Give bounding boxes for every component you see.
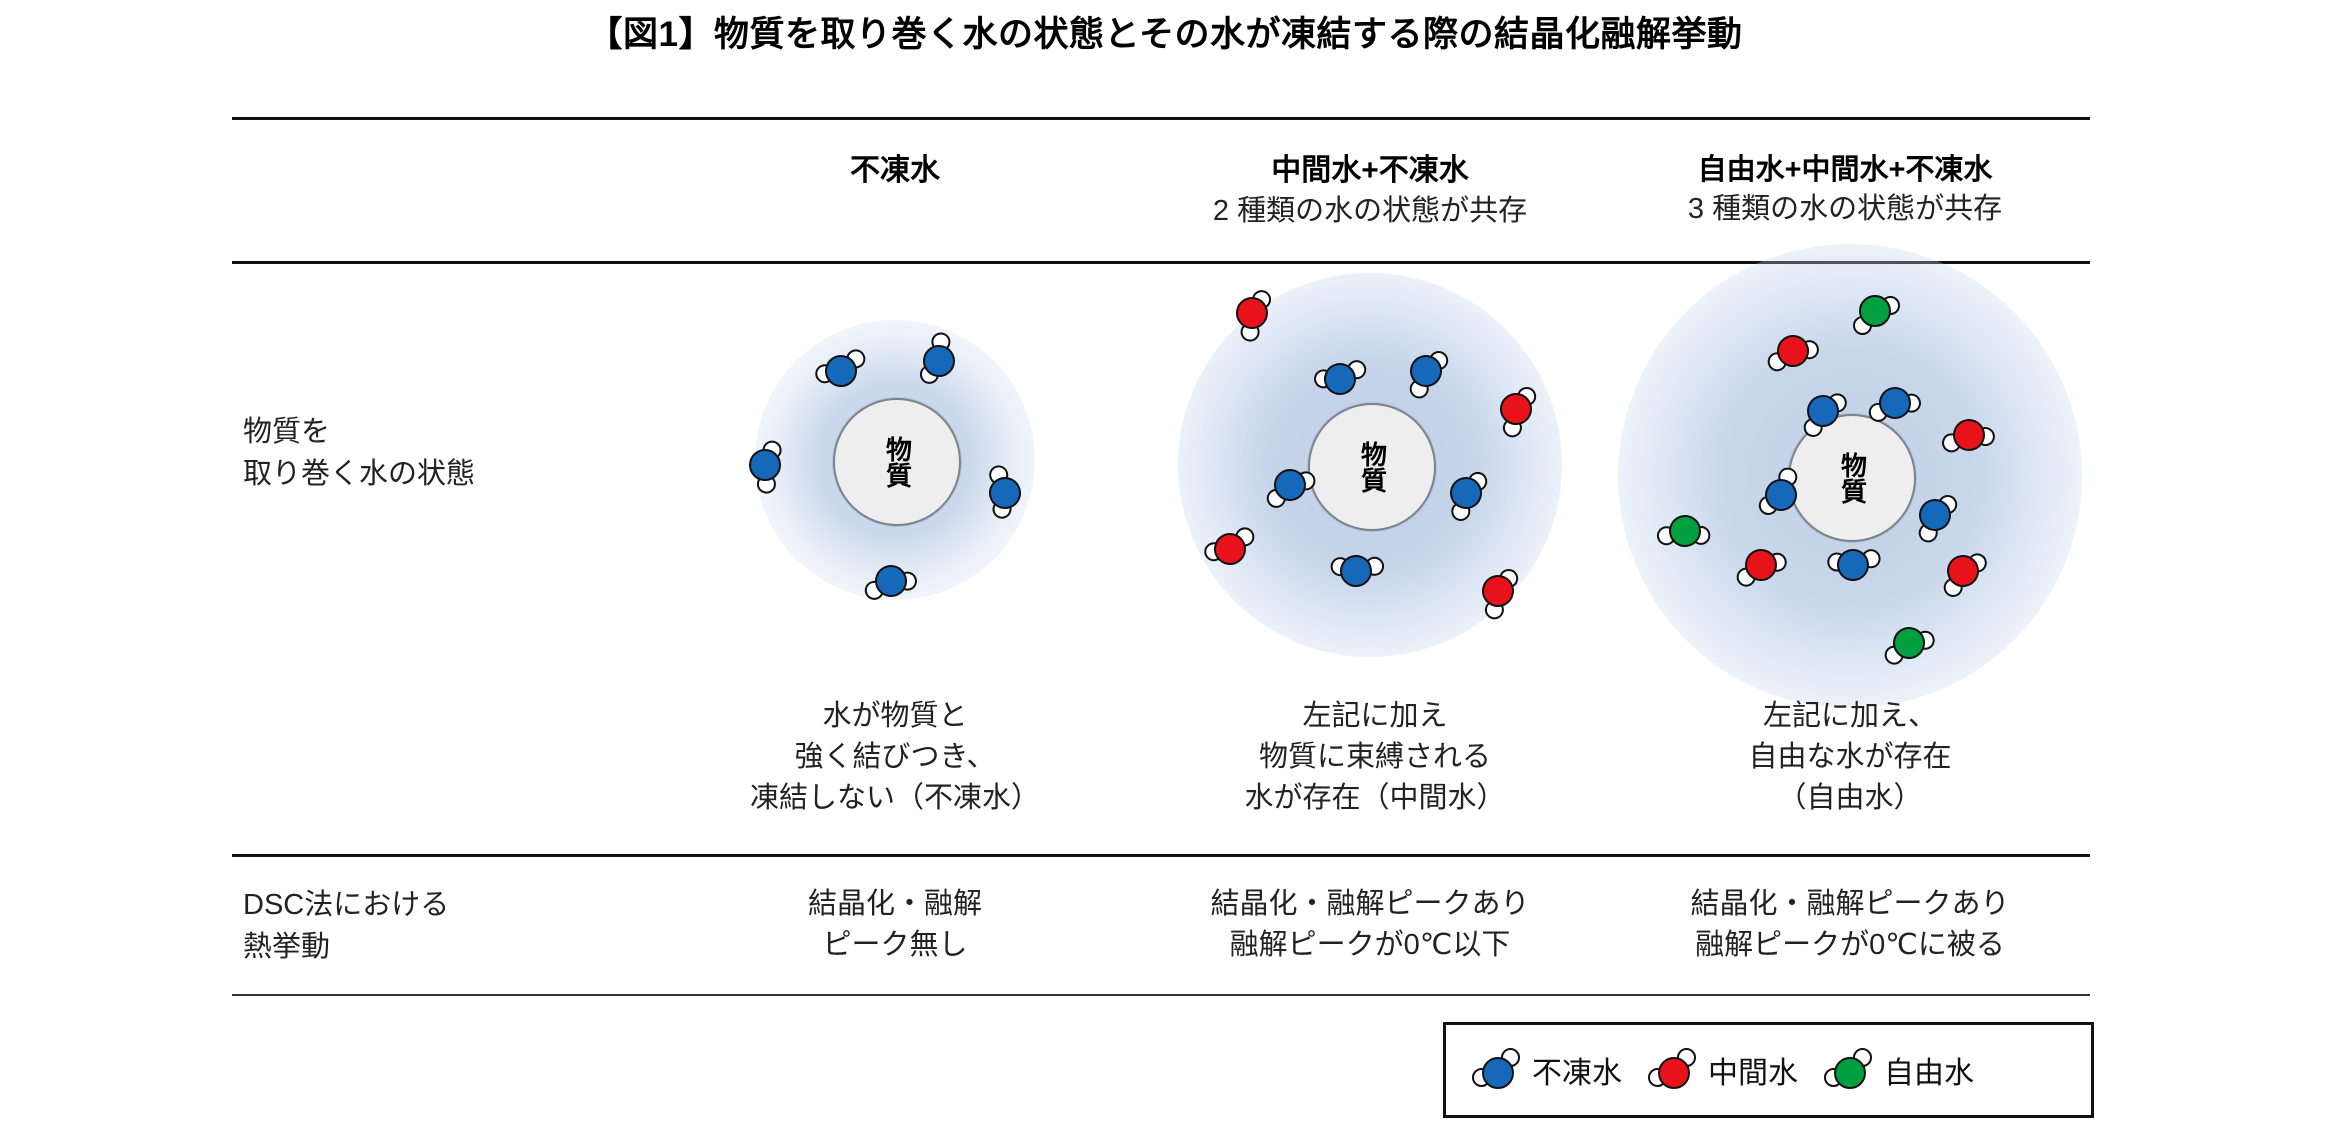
water-molecule-intermediate — [1734, 538, 1787, 591]
column-header-2-sub: 2 種類の水の状態が共存 — [1155, 193, 1585, 231]
molecule-diagram-3: 物質 — [1650, 280, 2050, 680]
water-molecule-intermediate — [1936, 544, 1989, 597]
water-molecule-icon-free — [1824, 1047, 1874, 1093]
column-header-2: 中間水+不凍水 2 種類の水の状態が共存 — [1155, 152, 1585, 230]
column-description-3: 左記に加え、 自由な水が存在 （自由水） — [1620, 696, 2080, 820]
substance-core: 物質 — [1308, 403, 1436, 531]
legend-label-unfrozen: 不凍水 — [1532, 1048, 1622, 1092]
table-rule-bottom — [232, 994, 2090, 996]
diagram-3-canvas: 物質 — [1650, 280, 2050, 680]
legend-item-free: 自由水 — [1824, 1047, 1974, 1093]
column-description-1-line3: 凍結しない（不凍水） — [655, 778, 1135, 819]
column-description-2: 左記に加え 物質に束縛される 水が存在（中間水） — [1140, 696, 1610, 820]
dsc-cell-2-line2: 融解ピークが0℃以下 — [1130, 925, 1610, 966]
column-description-1-line1: 水が物質と — [655, 696, 1135, 737]
column-description-3-line3: （自由水） — [1620, 778, 2080, 819]
legend-label-intermediate: 中間水 — [1708, 1048, 1798, 1092]
dsc-cell-1-line2: ピーク無し — [655, 925, 1135, 966]
molecule-diagram-2: 物質 — [1175, 280, 1565, 680]
water-molecule-unfrozen — [1796, 384, 1849, 437]
substance-core: 物質 — [833, 398, 961, 526]
water-molecule-icon-intermediate — [1648, 1047, 1698, 1093]
dsc-cell-2-line1: 結晶化・融解ピークあり — [1130, 884, 1610, 925]
dsc-cell-1-line1: 結晶化・融解 — [655, 884, 1135, 925]
water-molecule-free — [1852, 288, 1898, 334]
substance-core-label: 物質 — [882, 436, 911, 488]
water-molecule-icon-unfrozen — [1472, 1047, 1522, 1093]
column-description-3-line2: 自由な水が存在 — [1620, 737, 2080, 778]
row-label-water-state-line2: 取り巻く水の状態 — [243, 453, 475, 495]
column-header-3-sub: 3 種類の水の状態が共存 — [1625, 191, 2065, 229]
diagram-2-canvas: 物質 — [1175, 280, 1565, 680]
column-header-1: 不凍水 — [685, 152, 1105, 193]
molecule-diagram-1: 物質 — [700, 280, 1090, 680]
legend-item-intermediate: 中間水 — [1648, 1047, 1798, 1093]
legend-box: 不凍水 中間水 自由水 — [1443, 1022, 2094, 1118]
row-label-dsc-line1: DSC法における — [243, 884, 449, 926]
column-header-2-main: 中間水+不凍水 — [1155, 152, 1585, 190]
dsc-cell-3: 結晶化・融解ピークあり 融解ピークが0℃に被る — [1605, 884, 2095, 966]
dsc-cell-2: 結晶化・融解ピークあり 融解ピークが0℃以下 — [1130, 884, 1610, 966]
row-label-water-state: 物質を 取り巻く水の状態 — [243, 411, 475, 495]
row-label-water-state-line1: 物質を — [243, 411, 475, 453]
legend-label-free: 自由水 — [1884, 1048, 1974, 1092]
column-description-3-line1: 左記に加え、 — [1620, 696, 2080, 737]
water-molecule-intermediate — [1203, 522, 1256, 575]
substance-core-label: 物質 — [1357, 441, 1386, 493]
column-description-1: 水が物質と 強く結びつき、 凍結しない（不凍水） — [655, 696, 1135, 820]
figure-title: 【図1】物質を取り巻く水の状態とその水が凍結する際の結晶化融解挙動 — [0, 6, 2330, 57]
table-rule-dsc — [232, 854, 2090, 857]
column-header-3: 自由水+中間水+不凍水 3 種類の水の状態が共存 — [1625, 152, 2065, 229]
column-header-1-main: 不凍水 — [685, 152, 1105, 190]
dsc-cell-1: 結晶化・融解 ピーク無し — [655, 884, 1135, 966]
diagram-1-canvas: 物質 — [700, 280, 1090, 680]
legend-item-unfrozen: 不凍水 — [1472, 1047, 1622, 1093]
table-rule-top — [232, 117, 2090, 120]
column-description-1-line2: 強く結びつき、 — [655, 737, 1135, 778]
dsc-cell-3-line1: 結晶化・融解ピークあり — [1605, 884, 2095, 925]
row-label-dsc-line2: 熱挙動 — [243, 926, 449, 968]
column-description-2-line3: 水が存在（中間水） — [1140, 778, 1610, 819]
row-label-dsc: DSC法における 熱挙動 — [243, 884, 449, 968]
water-molecule-unfrozen — [814, 344, 867, 397]
dsc-cell-3-line2: 融解ピークが0℃に被る — [1605, 925, 2095, 966]
column-description-2-line2: 物質に束縛される — [1140, 737, 1610, 778]
column-description-2-line1: 左記に加え — [1140, 696, 1610, 737]
water-molecule-free — [1882, 616, 1935, 669]
column-header-3-main: 自由水+中間水+不凍水 — [1625, 152, 2065, 188]
water-molecule-unfrozen — [1265, 460, 1315, 510]
substance-core-label: 物質 — [1837, 452, 1866, 504]
